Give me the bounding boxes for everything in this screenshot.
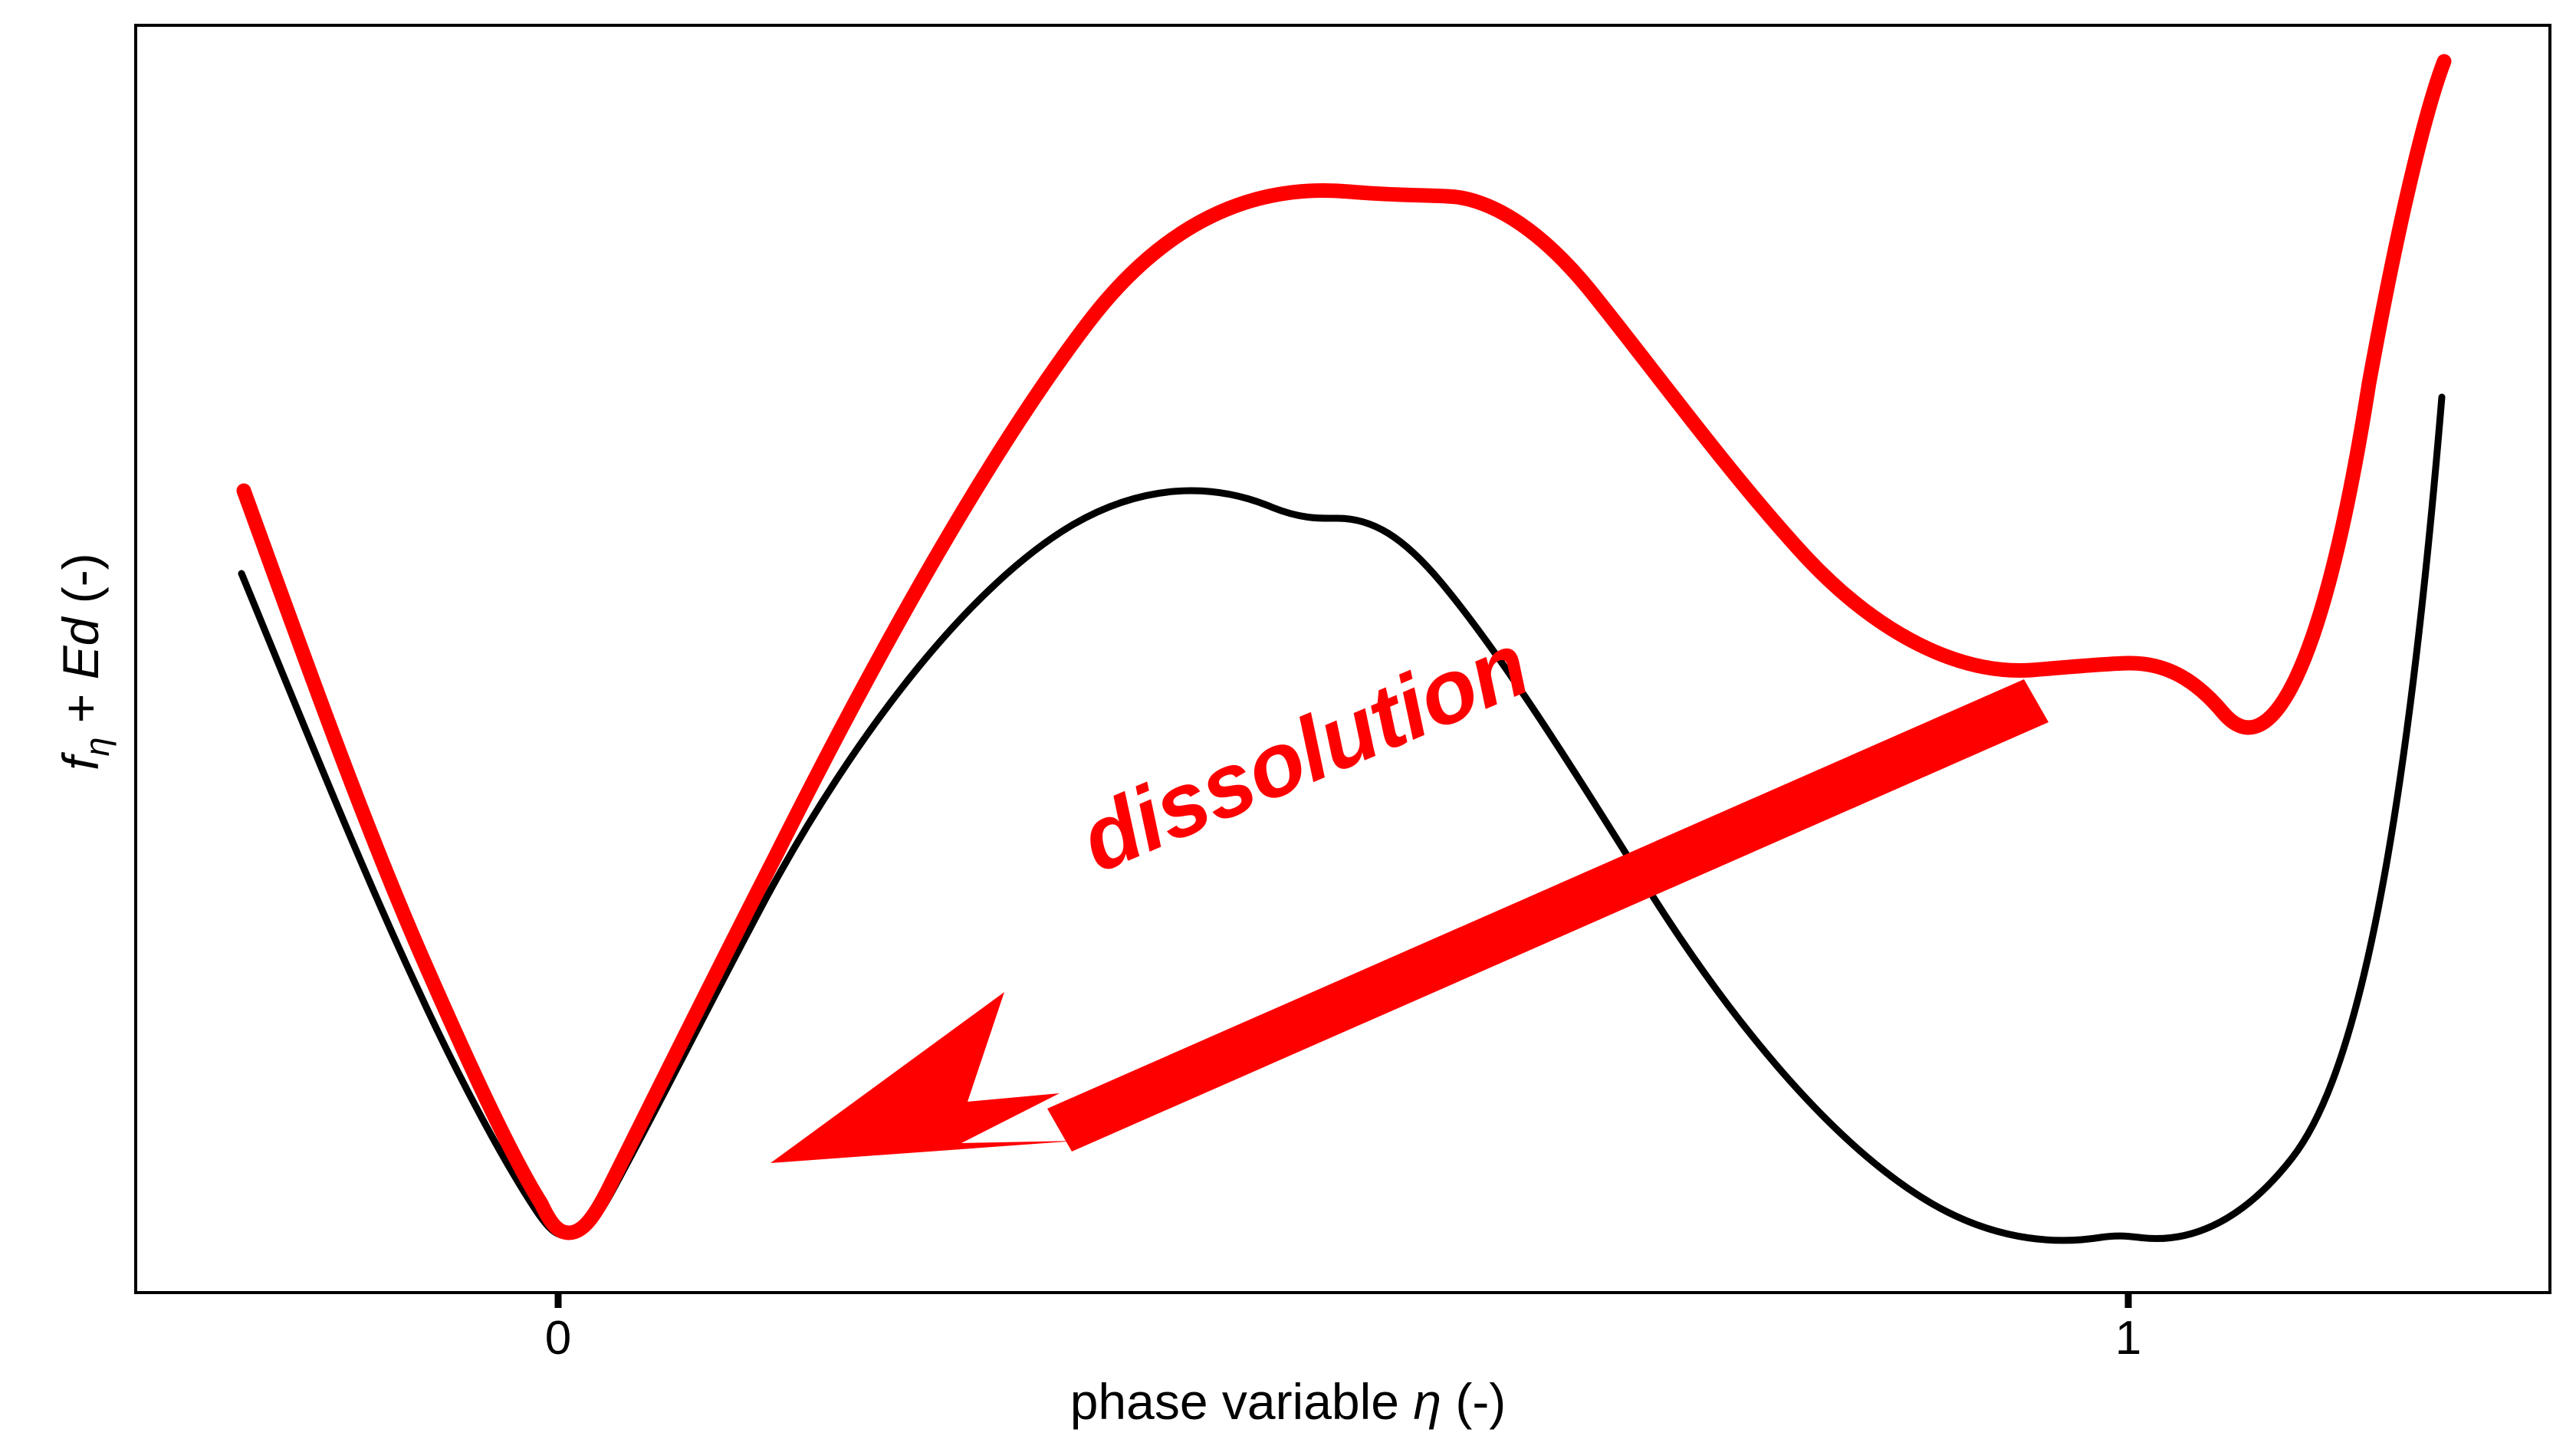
y-axis-label-d-subscript: d [52,618,109,646]
y-axis-label-eta-subscript: η [77,738,117,757]
y-axis-label: fη + Ed (-) [51,87,117,1237]
free-energy-figure: dissolution 0 1 phase variable η (-) fη … [0,0,2576,1449]
x-tick-marks [558,1293,2128,1308]
x-axis-label-text: phase variable [1070,1373,1414,1430]
x-tick-label-0: 0 [481,1311,635,1365]
y-axis-label-units: (-) [52,553,109,617]
x-axis-label-units: (-) [1441,1373,1506,1430]
x-axis-label: phase variable η (-) [0,1372,2576,1431]
plot-frame [134,24,2551,1294]
y-axis-label-plus: + [52,679,109,737]
x-tick-label-1: 1 [2052,1311,2205,1365]
y-axis-label-E-symbol: E [52,646,109,679]
y-axis-label-f-symbol: f [52,757,109,770]
x-axis-label-eta-symbol: η [1413,1373,1441,1430]
